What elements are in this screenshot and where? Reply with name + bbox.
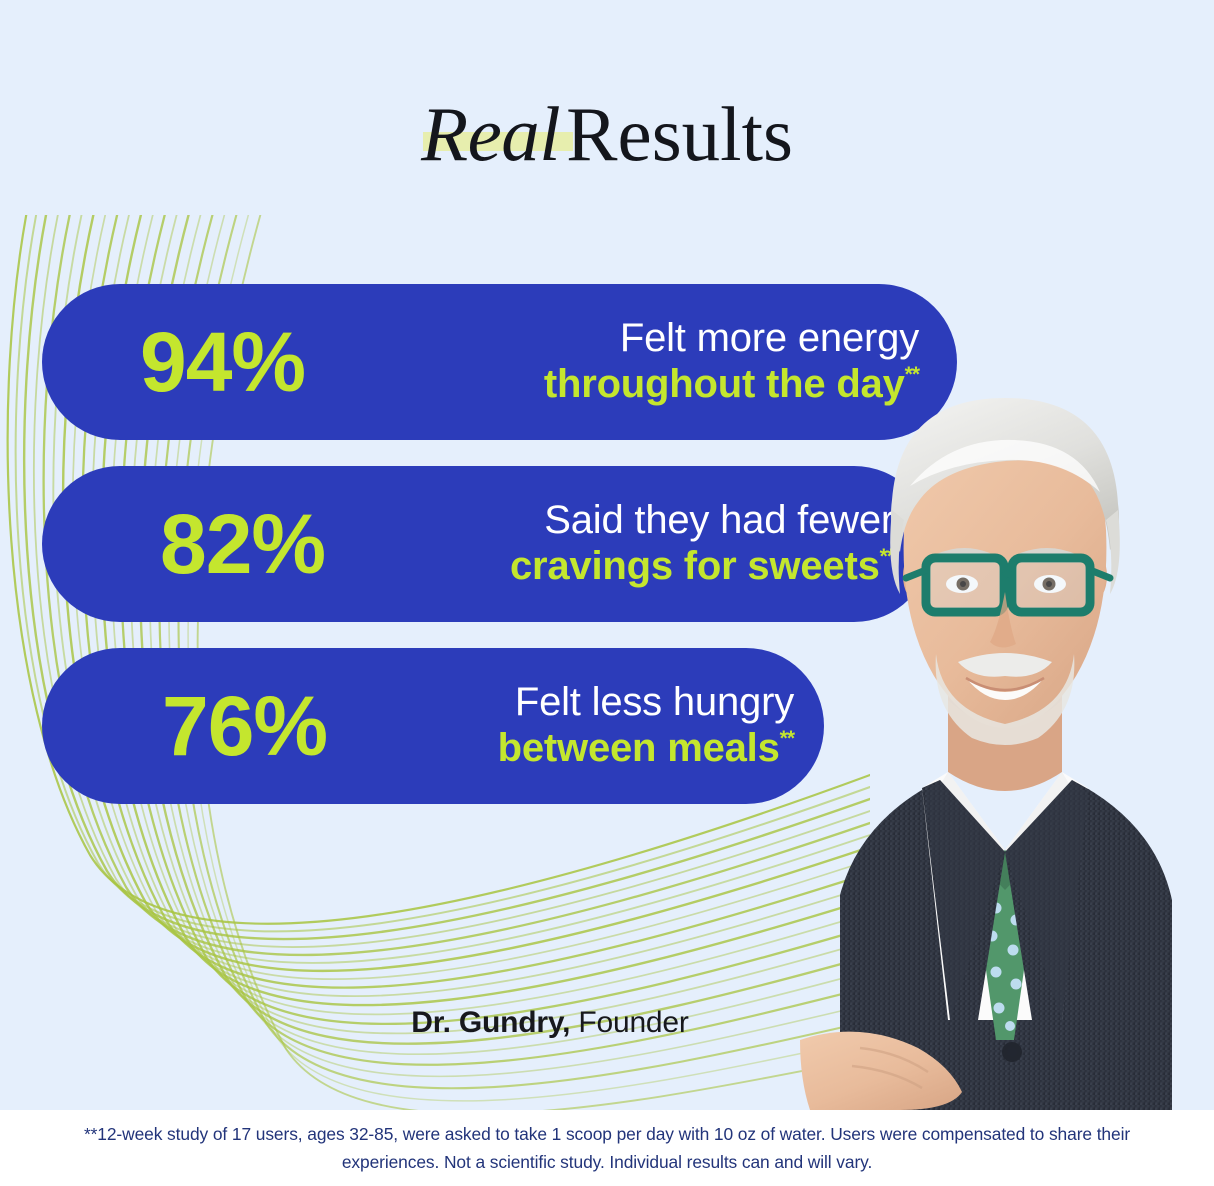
stat-pill: 82% Said they had fewer cravings for swe… xyxy=(42,466,932,622)
stat-line-secondary-text: between meals xyxy=(498,726,780,770)
stat-line-primary: Felt more energy xyxy=(305,316,919,362)
founder-role: Founder xyxy=(570,1006,688,1039)
page-title: RealResults xyxy=(421,96,793,173)
title-word-rest: Results xyxy=(566,91,793,177)
stat-percent: 76% xyxy=(162,684,327,768)
stat-percent: 94% xyxy=(140,320,305,404)
founder-name: Dr. Gundry, xyxy=(411,1006,570,1039)
title-container: RealResults xyxy=(0,96,1214,173)
stat-pill: 76% Felt less hungry between meals** xyxy=(42,648,824,804)
footnote-text: **12-week study of 17 users, ages 32-85,… xyxy=(47,1120,1167,1176)
founder-portrait xyxy=(800,380,1214,1110)
title-word-emphasis: Real xyxy=(421,91,566,177)
footnote-bar: **12-week study of 17 users, ages 32-85,… xyxy=(0,1110,1214,1186)
main-canvas: RealResults 94% Felt more energy through… xyxy=(0,0,1214,1110)
infographic-page: RealResults 94% Felt more energy through… xyxy=(0,0,1214,1186)
footnote-marker: ** xyxy=(780,727,794,750)
stat-text-block: Felt less hungry between meals** xyxy=(327,680,824,771)
stat-percent: 82% xyxy=(160,502,325,586)
attribution-line: Dr. Gundry, Founder xyxy=(300,1006,800,1040)
stat-line-primary: Felt less hungry xyxy=(327,680,794,726)
stat-line-secondary: between meals** xyxy=(327,726,794,772)
